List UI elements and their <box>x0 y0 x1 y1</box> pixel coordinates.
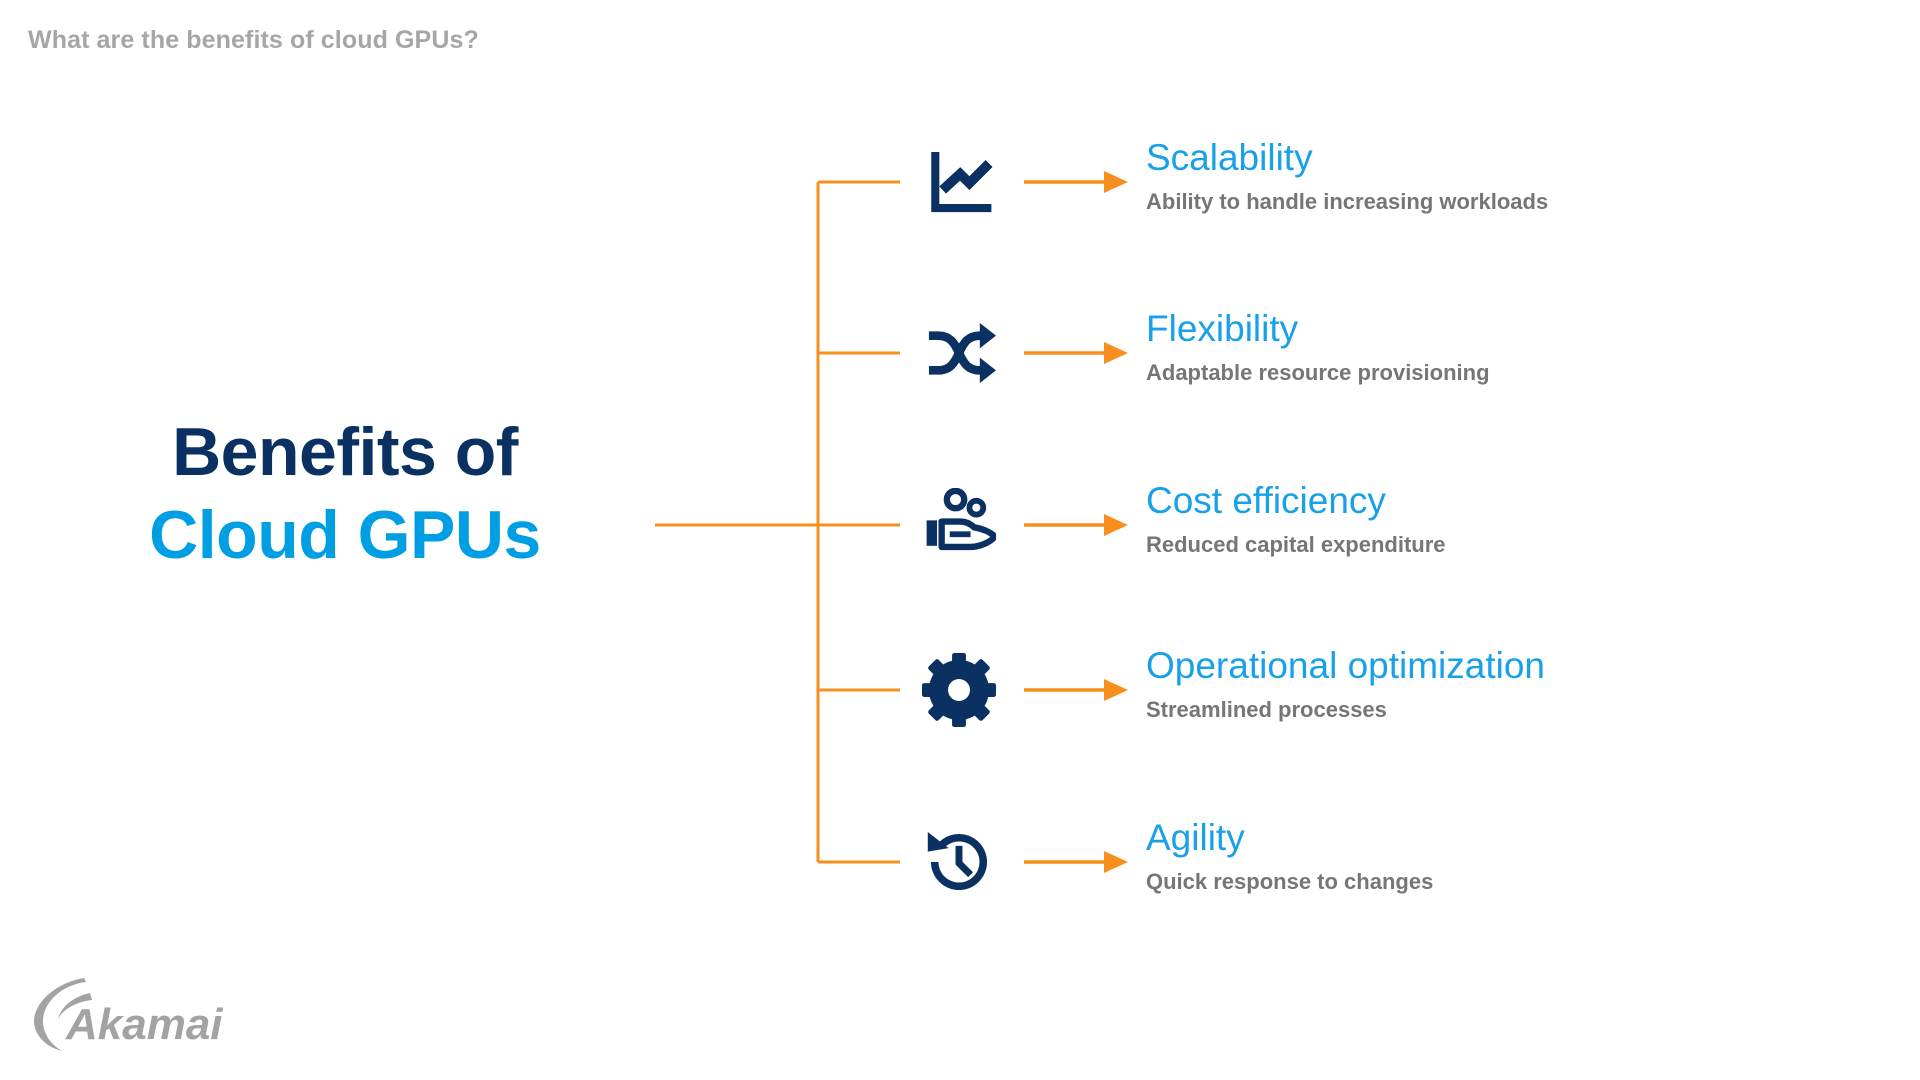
line-chart-icon <box>920 143 998 221</box>
page-title-line-2: Cloud GPUs <box>60 501 630 570</box>
benefit-text-block: Agility Quick response to changes <box>1146 817 1886 895</box>
benefit-subtitle: Streamlined processes <box>1146 697 1886 723</box>
benefit-row-scalability[interactable]: Scalability Ability to handle increasing… <box>920 143 1900 263</box>
benefit-row-agility[interactable]: Agility Quick response to changes <box>920 823 1900 943</box>
benefit-row-cost-efficiency[interactable]: Cost efficiency Reduced capital expendit… <box>920 486 1900 606</box>
benefit-title: Scalability <box>1146 137 1886 180</box>
benefit-text-block: Operational optimization Streamlined pro… <box>1146 645 1886 723</box>
benefit-subtitle: Reduced capital expenditure <box>1146 532 1886 558</box>
benefit-subtitle: Ability to handle increasing workloads <box>1146 189 1886 215</box>
clock-history-icon <box>920 823 998 901</box>
benefit-subtitle: Quick response to changes <box>1146 869 1886 895</box>
benefit-title: Operational optimization <box>1146 645 1886 688</box>
benefit-title: Cost efficiency <box>1146 480 1886 523</box>
benefit-row-flexibility[interactable]: Flexibility Adaptable resource provision… <box>920 314 1900 434</box>
slide-question-text: What are the benefits of cloud GPUs? <box>28 26 479 55</box>
benefit-row-operational-optimization[interactable]: Operational optimization Streamlined pro… <box>920 651 1900 771</box>
benefit-text-block: Cost efficiency Reduced capital expendit… <box>1146 480 1886 558</box>
page-title: Benefits of Cloud GPUs <box>60 418 630 571</box>
slide-canvas: What are the benefits of cloud GPUs? Ben… <box>0 0 1920 1080</box>
shuffle-arrows-icon <box>920 314 998 392</box>
page-title-line-1: Benefits of <box>60 418 630 487</box>
akamai-wordmark: Akamai <box>65 1000 223 1049</box>
benefit-subtitle: Adaptable resource provisioning <box>1146 360 1886 386</box>
benefit-title: Flexibility <box>1146 308 1886 351</box>
gear-icon <box>920 651 998 729</box>
benefit-text-block: Flexibility Adaptable resource provision… <box>1146 308 1886 386</box>
benefit-title: Agility <box>1146 817 1886 860</box>
akamai-logo: Akamai <box>30 975 240 1053</box>
hand-coins-icon <box>920 486 998 564</box>
benefit-text-block: Scalability Ability to handle increasing… <box>1146 137 1886 215</box>
